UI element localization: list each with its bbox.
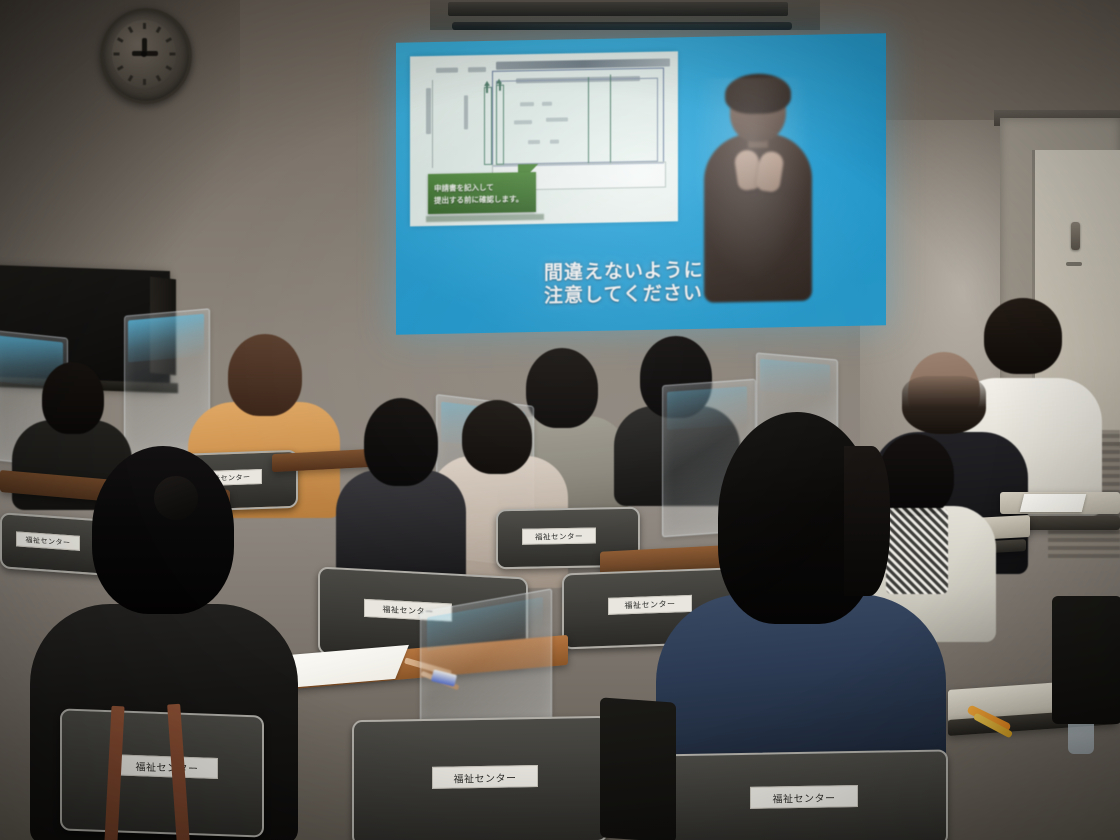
chair-label: 福祉センター	[432, 765, 538, 789]
hair-strand	[844, 446, 890, 596]
chair-label: 福祉センター	[522, 528, 596, 545]
handbag	[600, 697, 676, 840]
desk-frame	[1018, 516, 1120, 530]
clock-center-pin	[141, 51, 147, 57]
projector-screen-rail	[448, 2, 788, 16]
screen-vignette	[396, 33, 886, 334]
chair-label: 福祉センター	[750, 785, 858, 809]
door-lock-slot	[1066, 262, 1082, 266]
wall-clock	[100, 8, 192, 104]
chair-front-right[interactable]: 福祉センター	[652, 749, 948, 840]
projection-screen: 申請書を記入して 提出する前に確認します。 間違えないように 注意してください	[396, 33, 886, 334]
chair-label: 福祉センター	[116, 754, 218, 779]
clock-face	[112, 20, 176, 88]
hair-bun	[154, 476, 198, 520]
attendee-woman-dark-mid-left	[336, 398, 468, 588]
door-handle-icon[interactable]	[1071, 222, 1080, 250]
projector-screen-rail-shadow	[452, 22, 792, 30]
chair-front-left[interactable]: 福祉センター	[60, 708, 264, 837]
seminar-room-photo: 申請書を記入して 提出する前に確認します。 間違えないように 注意してください	[0, 0, 1120, 840]
desk-paper	[1020, 494, 1086, 512]
chair-front-center[interactable]: 福祉センター	[352, 716, 608, 840]
backpack	[1052, 596, 1120, 724]
